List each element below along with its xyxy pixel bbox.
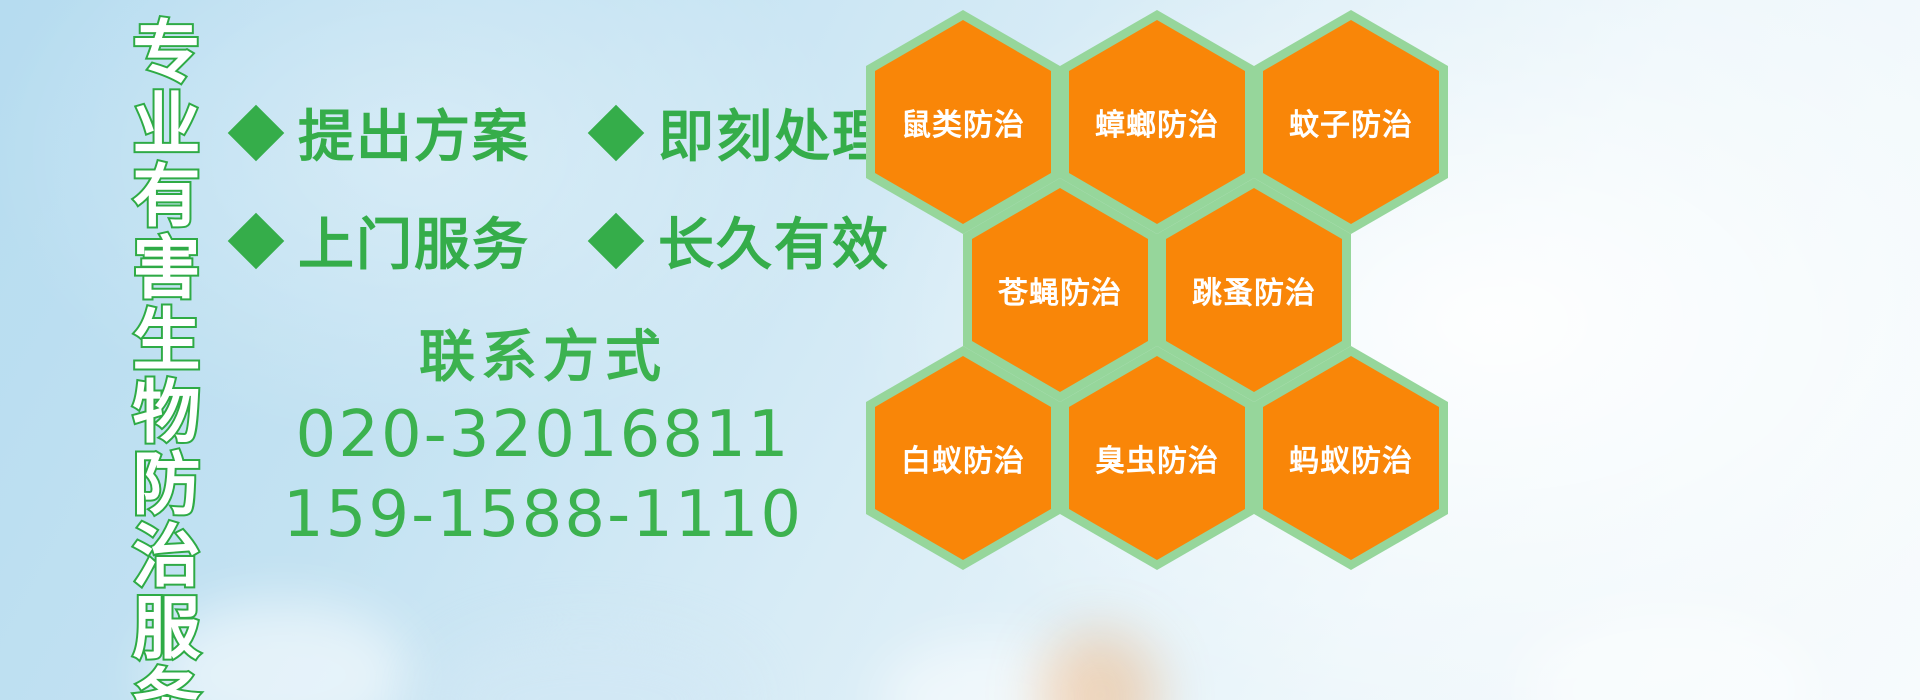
service-hexagon-grid: 鼠类防治 蟑螂防治 蚊子防治 苍蝇防治 跳蚤防治 白蚁防治 [860,0,1460,560]
service-label: 鼠类防治 [901,100,1025,144]
service-label: 臭虫防治 [1095,436,1219,480]
feature-label: 上门服务 [298,200,530,281]
diamond-bullet-icon [228,212,285,269]
service-label: 蟑螂防治 [1095,100,1219,144]
service-hex-fill: 蚂蚁防治 [1263,356,1439,560]
service-hex-fill: 蚊子防治 [1263,20,1439,224]
background-blur-blob [880,640,1100,700]
left-content-column: 提出方案 即刻处理 上门服务 长久有效 联系方式 020-32016811 15… [228,0,858,700]
phone-number-landline[interactable]: 020-32016811 [228,398,858,472]
background-blur-blob [1520,610,1820,700]
pest-control-banner: 专业有害生物防治服务 提出方案 即刻处理 上门服务 长久有效 [0,0,1920,700]
feature-label: 长久有效 [658,200,890,281]
service-label: 蚂蚁防治 [1289,436,1413,480]
feature-item: 即刻处理 [596,92,890,173]
service-label: 苍蝇防治 [998,268,1122,312]
service-hex-fill: 臭虫防治 [1069,356,1245,560]
diamond-bullet-icon [588,104,645,161]
diamond-bullet-icon [588,212,645,269]
contact-heading: 联系方式 [228,312,858,393]
feature-row: 上门服务 长久有效 [236,200,890,281]
service-hex-fill: 跳蚤防治 [1166,188,1342,392]
background-blur-blob [1040,630,1160,700]
service-hex-fill: 蟑螂防治 [1069,20,1245,224]
feature-row: 提出方案 即刻处理 [236,92,890,173]
service-label: 白蚁防治 [901,436,1025,480]
phone-number-mobile[interactable]: 159-1588-1110 [228,478,858,552]
feature-label: 提出方案 [298,92,530,173]
service-label: 蚊子防治 [1289,100,1413,144]
vertical-headline: 专业有害生物防治服务 [108,16,194,684]
service-hex-fill: 白蚁防治 [875,356,1051,560]
feature-item: 上门服务 [236,200,530,281]
feature-label: 即刻处理 [658,92,890,173]
feature-item: 提出方案 [236,92,530,173]
service-hex-fill: 鼠类防治 [875,20,1051,224]
service-hex-fill: 苍蝇防治 [972,188,1148,392]
diamond-bullet-icon [228,104,285,161]
feature-item: 长久有效 [596,200,890,281]
service-label: 跳蚤防治 [1192,268,1316,312]
